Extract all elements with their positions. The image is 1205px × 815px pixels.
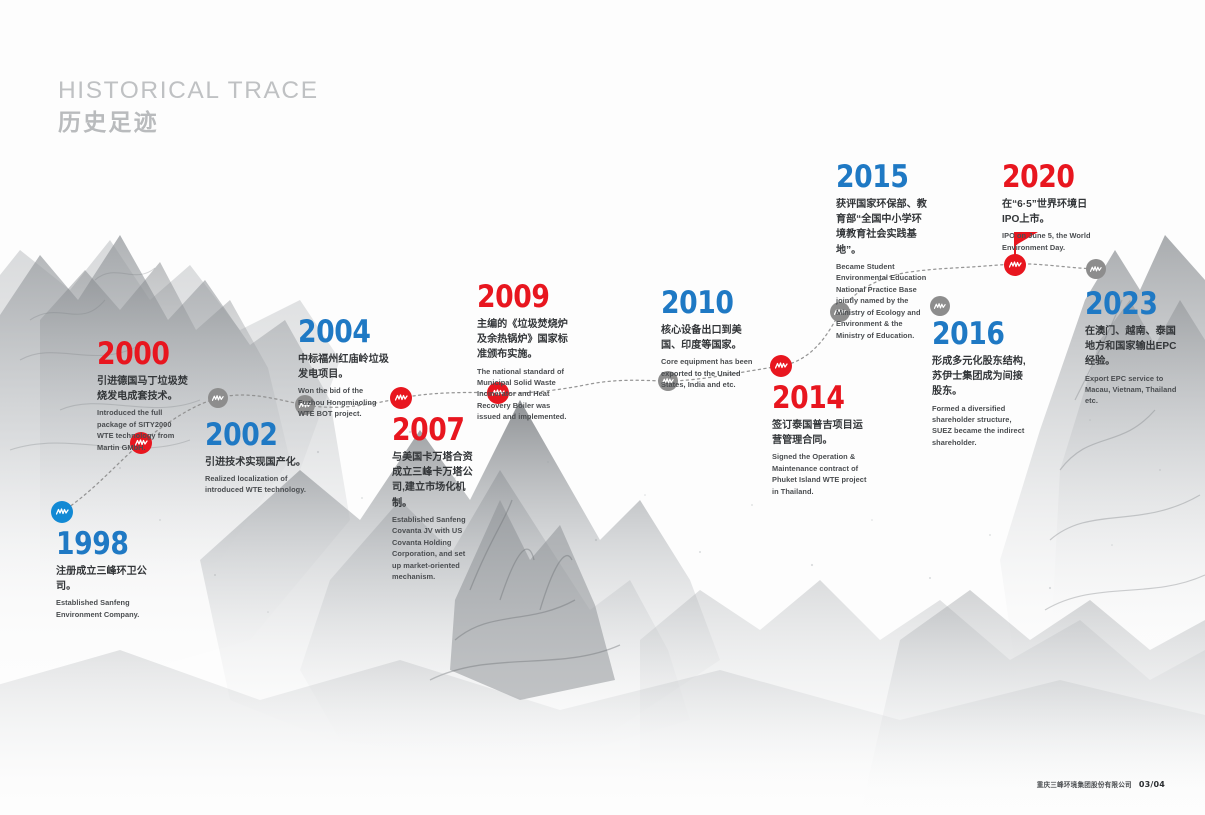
event-desc-cn: 引进技术实现国产化。 — [205, 455, 311, 470]
event-year: 2015 — [836, 163, 915, 192]
event-year: 2007 — [392, 416, 464, 445]
event-desc-cn: 中标福州红庙岭垃圾发电项目。 — [298, 352, 390, 383]
timeline-marker-2007[interactable] — [390, 387, 412, 409]
timeline-event-2014[interactable]: 2014 签订泰国普吉项目运营管理合同。 Signed the Operatio… — [772, 384, 868, 497]
sanfeng-wave-logo-icon — [775, 361, 788, 371]
event-desc-en: IPO on June 5, the World Environment Day… — [1002, 230, 1094, 253]
event-desc-cn: 主编的《垃圾焚烧炉及余热锅炉》国家标准颁布实施。 — [477, 317, 573, 363]
timeline-marker-2020[interactable] — [1004, 254, 1026, 276]
page-title-cn: 历史足迹 — [58, 108, 319, 138]
footer: 重庆三峰环境集团股份有限公司 03/04 — [1037, 779, 1165, 789]
event-desc-en: Established Sanfeng Covanta JV with US C… — [392, 514, 476, 583]
timeline-event-2020[interactable]: 2020 在“6·5”世界环境日IPO上市。 IPO on June 5, th… — [1002, 163, 1094, 253]
event-desc-cn: 在澳门、越南、泰国地方和国家输出EPC经验。 — [1085, 324, 1185, 370]
event-year: 2000 — [97, 340, 176, 369]
page-title-en: HISTORICAL TRACE — [58, 76, 319, 106]
event-year: 2016 — [932, 320, 1018, 349]
sanfeng-wave-logo-icon — [934, 302, 946, 311]
event-year: 1998 — [56, 530, 135, 559]
timeline-event-2023[interactable]: 2023 在澳门、越南、泰国地方和国家输出EPC经验。 Export EPC s… — [1085, 290, 1185, 407]
sanfeng-wave-logo-icon — [1009, 260, 1022, 270]
event-year: 2014 — [772, 384, 855, 413]
event-desc-en: The national standard of Municipal Solid… — [477, 366, 573, 423]
timeline-page: HISTORICAL TRACE 历史足迹 — [0, 0, 1205, 815]
timeline-marker-1998[interactable] — [51, 501, 73, 523]
timeline-marker-2023[interactable] — [1086, 259, 1106, 279]
event-desc-en: Signed the Operation & Maintenance contr… — [772, 451, 868, 497]
event-year: 2002 — [205, 421, 296, 450]
sanfeng-wave-logo-icon — [56, 507, 69, 517]
timeline-event-2007[interactable]: 2007 与美国卡万塔合资成立三峰卡万塔公司,建立市场化机制。 Establis… — [392, 416, 476, 583]
event-desc-en: Core equipment has been exported to the … — [661, 356, 753, 390]
event-desc-en: Realized localization of introduced WTE … — [205, 473, 311, 496]
event-year: 2009 — [477, 283, 560, 312]
timeline-event-2000[interactable]: 2000 引进德国马丁垃圾焚烧发电成套技术。 Introduced the fu… — [97, 340, 189, 453]
page-number: 03/04 — [1139, 780, 1165, 789]
event-desc-cn: 在“6·5”世界环境日IPO上市。 — [1002, 197, 1094, 228]
sanfeng-wave-logo-icon — [212, 394, 224, 403]
event-desc-en: Formed a diversified shareholder structu… — [932, 403, 1032, 449]
timeline-marker-2016[interactable] — [930, 296, 950, 316]
page-title: HISTORICAL TRACE 历史足迹 — [58, 76, 319, 138]
timeline-event-2010[interactable]: 2010 核心设备出口到美国、印度等国家。 Core equipment has… — [661, 289, 753, 391]
event-desc-cn: 注册成立三峰环卫公司。 — [56, 564, 148, 595]
sanfeng-wave-logo-icon — [395, 393, 408, 403]
timeline-event-2016[interactable]: 2016 形成多元化股东结构,苏伊士集团成为间接股东。 Formed a div… — [932, 320, 1032, 448]
event-desc-cn: 核心设备出口到美国、印度等国家。 — [661, 323, 753, 354]
timeline-marker-2002[interactable] — [208, 388, 228, 408]
event-desc-cn: 签订泰国普吉项目运营管理合同。 — [772, 418, 868, 449]
event-year: 2010 — [661, 289, 740, 318]
event-desc-en: Export EPC service to Macau, Vietnam, Th… — [1085, 373, 1185, 407]
event-year: 2020 — [1002, 163, 1081, 192]
event-year: 2004 — [298, 318, 377, 347]
timeline-event-2009[interactable]: 2009 主编的《垃圾焚烧炉及余热锅炉》国家标准颁布实施。 The nation… — [477, 283, 573, 423]
timeline-event-1998[interactable]: 1998 注册成立三峰环卫公司。 Established Sanfeng Env… — [56, 530, 148, 620]
event-desc-en: Won the bid of the Fuzhou Hongmiaoling W… — [298, 385, 390, 419]
footer-company-name: 重庆三峰环境集团股份有限公司 — [1037, 779, 1132, 789]
timeline-event-2015[interactable]: 2015 获评国家环保部、教育部“全国中小学环境教育社会实践基地”。 Becam… — [836, 163, 928, 341]
sanfeng-wave-logo-icon — [1090, 265, 1102, 274]
event-desc-cn: 形成多元化股东结构,苏伊士集团成为间接股东。 — [932, 354, 1032, 400]
event-desc-en: Established Sanfeng Environment Company. — [56, 597, 148, 620]
event-desc-en: Introduced the full package of SITY2000 … — [97, 407, 189, 453]
event-desc-en: Became Student Environmental Education N… — [836, 261, 928, 341]
event-desc-cn: 获评国家环保部、教育部“全国中小学环境教育社会实践基地”。 — [836, 197, 928, 258]
event-desc-cn: 与美国卡万塔合资成立三峰卡万塔公司,建立市场化机制。 — [392, 450, 476, 511]
timeline-event-2002[interactable]: 2002 引进技术实现国产化。 Realized localization of… — [205, 421, 311, 496]
timeline-event-2004[interactable]: 2004 中标福州红庙岭垃圾发电项目。 Won the bid of the F… — [298, 318, 390, 420]
event-desc-cn: 引进德国马丁垃圾焚烧发电成套技术。 — [97, 374, 189, 405]
event-year: 2023 — [1085, 290, 1171, 319]
timeline-marker-2014[interactable] — [770, 355, 792, 377]
